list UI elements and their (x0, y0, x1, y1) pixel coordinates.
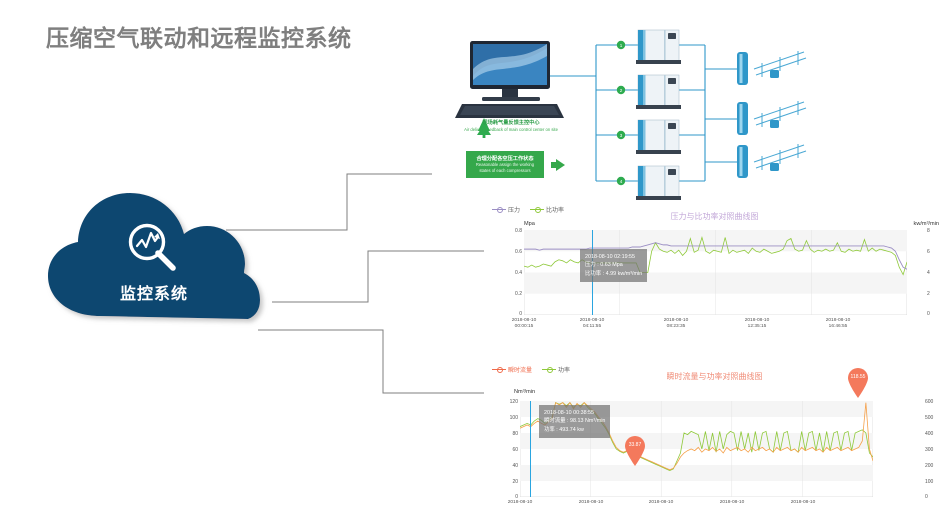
chart2-tooltip: 2018-08-10 00:38:55 瞬时流量 : 98.13 Nm³/min… (539, 405, 610, 438)
chart1-tooltip-pressure: 压力 : 0.63 Mpa (585, 261, 642, 269)
chart1-title: 压力与比功率对照曲线图 (484, 211, 945, 222)
svg-text:3: 3 (620, 133, 623, 138)
chart1-y2tick: 0 (927, 311, 939, 317)
chart2-y-axis-unit: Nm³/min (514, 389, 535, 395)
chart1-ytick: 0.4 (504, 270, 522, 276)
chart1-xtick: 2018-08-1008:23:35 (644, 318, 708, 331)
pin-shape (624, 436, 646, 466)
air-tank-distribution (737, 144, 806, 178)
desktop-monitor-icon (455, 41, 564, 118)
chart2-marker-max-label: 118.55 (847, 374, 869, 380)
pin-shape (847, 368, 869, 398)
chart1-tooltip-timestamp: 2018-08-10 02:19:55 (585, 253, 642, 261)
chart2-marker-min-label: 33.87 (624, 442, 646, 448)
chart1-tooltip-specific-power: 比功率 : 4.99 kw/m³/min (585, 270, 642, 278)
compressor-unit (636, 120, 681, 154)
chart1-ytick: 0.6 (504, 249, 522, 255)
magnifier-chart-icon (124, 219, 182, 277)
compressor-unit (636, 166, 681, 200)
svg-text:2: 2 (620, 88, 623, 93)
assign-states-box: 合理分配各空压工作状态 Reasonable assign the workin… (466, 151, 544, 178)
assign-states-label-en: Reasonable assign the working states of … (466, 162, 544, 173)
legend-marker-power (542, 369, 556, 370)
chart2-y2tick: 400 (925, 431, 941, 437)
chart2-tooltip-timestamp: 2018-08-10 00:38:55 (544, 409, 605, 417)
chart2-y2tick: 300 (925, 447, 941, 453)
chart2-y2tick: 0 (925, 494, 941, 500)
chart2-ytick: 40 (496, 463, 518, 469)
svg-text:4: 4 (620, 179, 623, 184)
chart1-y2-axis-unit: kw/m³/min (914, 221, 939, 227)
chart2-y2tick: 500 (925, 415, 941, 421)
chart1-xtick: 2018-08-1000:00:15 (492, 318, 556, 331)
chart2-tooltip-flow: 瞬时流量 : 98.13 Nm³/min (544, 417, 605, 425)
svg-text:1: 1 (620, 43, 623, 48)
chart1-ytick: 0.2 (504, 291, 522, 297)
chart1-y2tick: 4 (927, 270, 939, 276)
chart2-y2tick: 200 (925, 463, 941, 469)
air-tank-distribution (737, 101, 806, 135)
chart2-xtick: 2018-08-10 (700, 500, 764, 506)
chart1-ytick: 0 (504, 311, 522, 317)
cloud-label: 监控系统 (38, 280, 270, 304)
chart1-y2tick: 8 (927, 228, 939, 234)
feedback-label-en: Air delivery feedback of main control ce… (459, 127, 563, 132)
chart2-y2tick: 600 (925, 399, 941, 405)
chart1-y-axis-unit: Mpa (524, 221, 535, 227)
chart2-marker-min[interactable]: 33.87 (624, 436, 646, 466)
chart2-tooltip-power: 功率 : 493.74 kw (544, 426, 605, 434)
compressor-unit (636, 75, 681, 109)
right-arrow-icon (556, 159, 565, 171)
chart1-xtick: 2018-08-1016:46:55 (806, 318, 870, 331)
compressor-unit (636, 30, 681, 64)
chart2-cursor-line[interactable] (530, 401, 531, 497)
chart2-xtick: 2018-08-10 (771, 500, 835, 506)
chart2-marker-max[interactable]: 118.55 (847, 368, 869, 398)
compressor-node-markers: 1 2 3 4 (617, 41, 625, 185)
legend-marker-flow (492, 369, 506, 370)
chart2-ytick: 120 (496, 399, 518, 405)
chart2-ytick: 80 (496, 431, 518, 437)
chart2-xtick: 2018-08-10 (629, 500, 693, 506)
feedback-label-cn: 现场耗气量反馈主控中心 (459, 120, 563, 127)
chart1-xtick: 2018-08-1012:35:15 (725, 318, 789, 331)
chart2-xtick: 2018-08-10 (488, 500, 552, 506)
page-title: 压缩空气联动和远程监控系统 (46, 19, 352, 53)
chart2-title: 瞬时流量与功率对照曲线图 (484, 371, 945, 382)
chart2-ytick: 20 (496, 479, 518, 485)
chart1-y2tick: 6 (927, 249, 939, 255)
assign-states-label-cn: 合理分配各空压工作状态 (476, 156, 533, 163)
chart1-y2tick: 2 (927, 291, 939, 297)
legend-marker-specific-power (530, 209, 544, 210)
chart1-tooltip: 2018-08-10 02:19:55 压力 : 0.63 Mpa 比功率 : … (580, 249, 647, 282)
chart1-ytick: 0.8 (504, 228, 522, 234)
chart2-xtick: 2018-08-10 (559, 500, 623, 506)
legend-marker-pressure (492, 209, 506, 210)
air-tank-distribution (737, 51, 806, 85)
flow-power-chart: 瞬时流量 功率 瞬时流量与功率对照曲线图 Nm³/min 120 100 80 … (484, 363, 945, 513)
chart2-ytick: 100 (496, 415, 518, 421)
chart2-ytick: 60 (496, 447, 518, 453)
pressure-power-chart: 压力 比功率 压力与比功率对照曲线图 Mpa kw/m³/min 0.8 0.6… (484, 203, 945, 333)
chart2-y2tick: 100 (925, 479, 941, 485)
monitoring-system-cloud[interactable]: 监控系统 (38, 188, 278, 333)
chart1-xtick: 2018-08-1004:11:55 (560, 318, 624, 331)
